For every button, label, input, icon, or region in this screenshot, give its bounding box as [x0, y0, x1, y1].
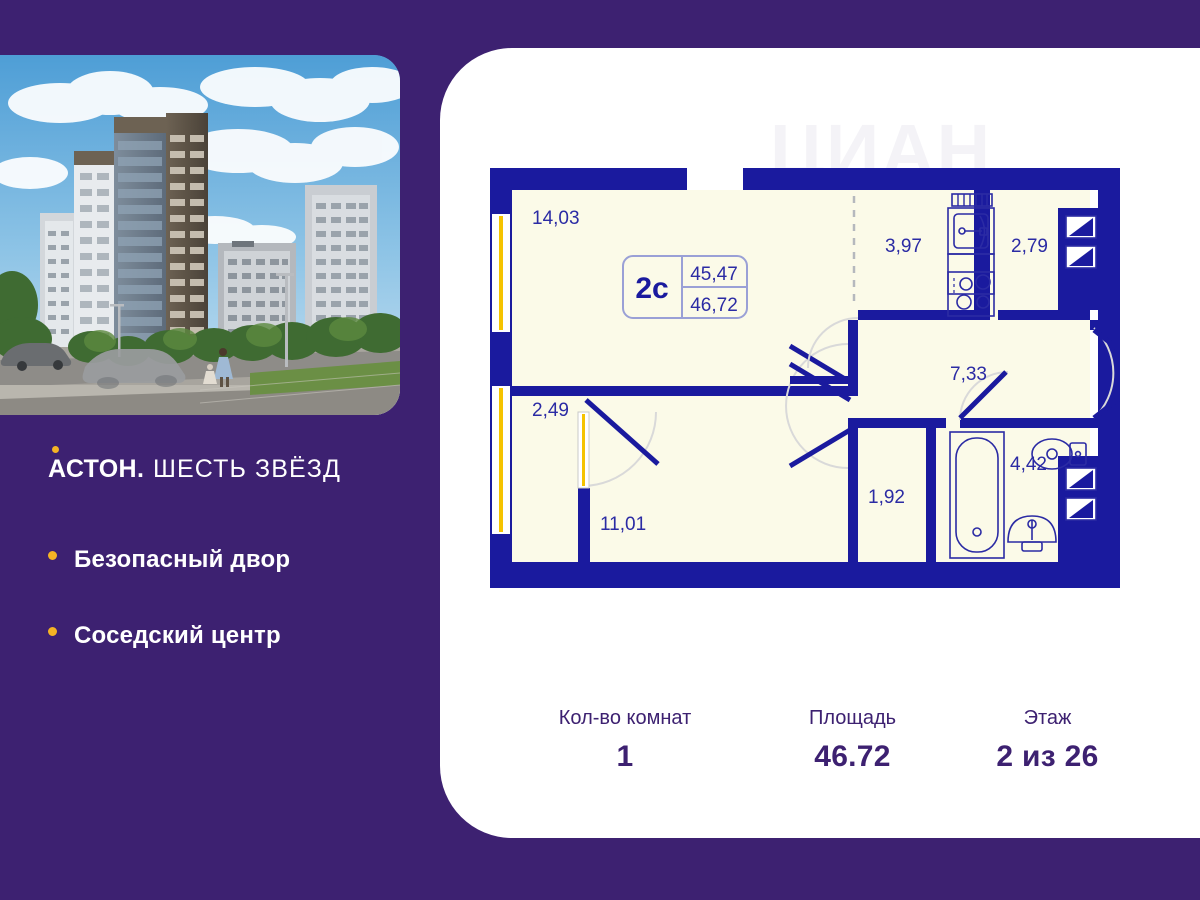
feature-label: Соседский центр	[74, 622, 281, 650]
area-label-entry-hall: 7,33	[950, 364, 987, 385]
window-left-upper	[492, 214, 510, 332]
feature-item: Безопасный двор	[48, 546, 290, 574]
area-label-storage: 1,92	[868, 487, 905, 508]
spec-rooms-value: 1	[500, 740, 750, 774]
brand-name-text: АСТОН	[48, 455, 137, 483]
feature-label: Безопасный двор	[74, 546, 290, 574]
spec-floor-label: Этаж	[955, 703, 1140, 733]
feature-item: Соседский центр	[48, 622, 281, 650]
spec-floor: Этаж 2 из 26	[955, 703, 1140, 774]
complex-photo-illustration	[0, 55, 400, 415]
brand-separator: .	[137, 455, 144, 484]
area-label-hall: 2,49	[532, 400, 569, 421]
spec-rooms-label: Кол-во комнат	[500, 703, 750, 733]
left-promo-panel: АСТОН . ШЕСТЬ ЗВЁЗД Безопасный двор Сосе…	[0, 0, 440, 900]
badge-type: 2с	[635, 272, 668, 305]
floorplan-drawing: 14,03 2,49 11,01 3,97 2,79 7,33 1,92 4,4…	[490, 168, 1120, 588]
spec-floor-value: 2 из 26	[955, 740, 1140, 774]
top-wall-opening	[687, 168, 743, 190]
badge-area-living: 45,47	[690, 264, 738, 285]
brand-name-primary: АСТОН	[48, 455, 137, 484]
brand-logo: АСТОН . ШЕСТЬ ЗВЁЗД	[48, 455, 341, 484]
area-label-loggia: 2,79	[1011, 236, 1048, 257]
spec-area: Площадь 46.72	[750, 703, 955, 774]
area-label-living-room: 14,03	[532, 208, 580, 229]
brand-dot-icon	[52, 446, 59, 453]
spec-area-label: Площадь	[750, 703, 955, 733]
area-label-bathroom: 4,42	[1010, 454, 1047, 475]
badge-area-total: 46,72	[690, 295, 738, 316]
floorplan-card: ЦИАН	[440, 48, 1200, 838]
bullet-dot-icon	[48, 551, 57, 560]
specs-row: Кол-во комнат 1 Площадь 46.72 Этаж 2 из …	[500, 703, 1140, 774]
area-label-kitchen: 3,97	[885, 236, 922, 257]
complex-photo[interactable]	[0, 55, 400, 415]
area-label-bedroom: 11,01	[600, 514, 646, 535]
bullet-dot-icon	[48, 627, 57, 636]
floorplan-container[interactable]: 14,03 2,49 11,01 3,97 2,79 7,33 1,92 4,4…	[490, 168, 1120, 588]
window-left-lower	[492, 386, 510, 534]
spec-rooms: Кол-во комнат 1	[500, 703, 750, 774]
brand-name-secondary: ШЕСТЬ ЗВЁЗД	[153, 455, 341, 484]
spec-area-value: 46.72	[750, 740, 955, 774]
